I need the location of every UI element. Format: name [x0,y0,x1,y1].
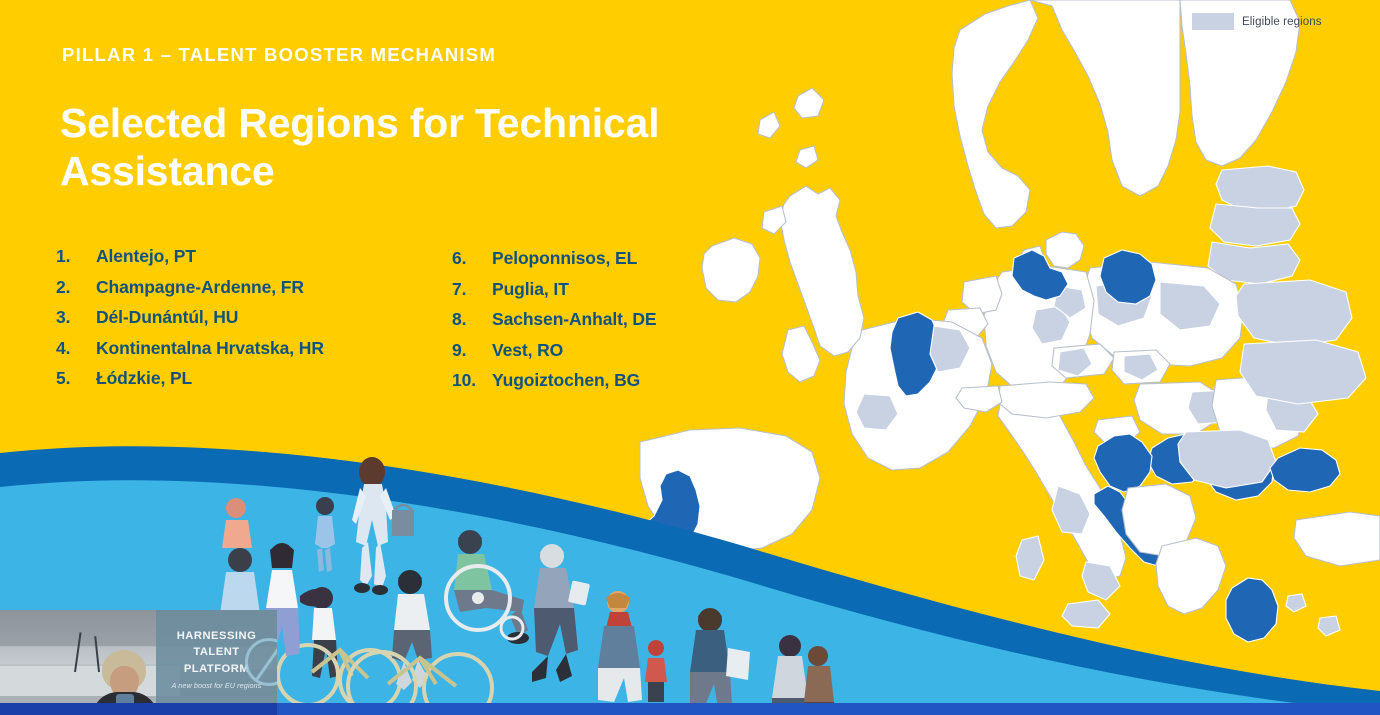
presentation-slide: .land { fill:#ffffff; stroke:#b9c0cc; st… [0,0,1380,715]
list-item-number: 8. [452,309,492,330]
list-item-label: Peloponnisos, EL [492,248,637,269]
page-title: Selected Regions for Technical Assistanc… [60,100,700,195]
list-item-label: Kontinentalna Hrvatska, HR [96,338,324,359]
list-item-label: Champagne-Ardenne, FR [96,277,304,298]
list-item-number: 3. [56,307,96,328]
pip-bottom-strip [0,703,277,715]
list-item-label: Puglia, IT [492,279,569,300]
list-item: 2. Champagne-Ardenne, FR [56,277,456,298]
list-item: 10. Yugoiztochen, BG [452,370,782,391]
list-item: 7. Puglia, IT [452,279,782,300]
legend-swatch-eligible [1192,13,1234,30]
list-item: 6. Peloponnisos, EL [452,248,782,269]
list-item-number: 9. [452,340,492,361]
pip-bicycle-wheel-icon [245,638,277,686]
list-item-number: 7. [452,279,492,300]
pip-banner-line-1: HARNESSING [177,628,257,645]
pip-banner-tagline: A new boost for EU regions [172,681,262,690]
list-item: 5. Łódzkie, PL [56,368,456,389]
region-list-left: 1. Alentejo, PT 2. Champagne-Ardenne, FR… [56,246,456,399]
legend-label-eligible: Eligible regions [1242,16,1322,28]
list-item: 3. Dél-Dunántúl, HU [56,307,456,328]
pip-banner-line-2: TALENT [193,644,239,661]
list-item-label: Dél-Dunántúl, HU [96,307,238,328]
list-item-number: 10. [452,370,492,391]
list-item: 4. Kontinentalna Hrvatska, HR [56,338,456,359]
list-item-number: 1. [56,246,96,267]
list-item-label: Łódzkie, PL [96,368,192,389]
slide-eyebrow: PILLAR 1 – TALENT BOOSTER MECHANISM [62,44,496,66]
list-item-label: Yugoiztochen, BG [492,370,640,391]
region-list-right: 6. Peloponnisos, EL 7. Puglia, IT 8. Sac… [452,248,782,401]
list-item: 8. Sachsen-Anhalt, DE [452,309,782,330]
pip-banner-line-3: PLATFORM [184,661,249,678]
webcam-video-overlay[interactable]: HARNESSING TALENT PLATFORM A new boost f… [0,610,277,715]
list-item: 1. Alentejo, PT [56,246,456,267]
list-item-label: Vest, RO [492,340,563,361]
list-item-number: 2. [56,277,96,298]
list-item-label: Alentejo, PT [96,246,196,267]
map-legend: Eligible regions [1192,13,1322,30]
list-item-number: 5. [56,368,96,389]
list-item-number: 6. [452,248,492,269]
list-item-label: Sachsen-Anhalt, DE [492,309,656,330]
pip-slide-banner: HARNESSING TALENT PLATFORM A new boost f… [156,610,277,708]
list-item: 9. Vest, RO [452,340,782,361]
list-item-number: 4. [56,338,96,359]
